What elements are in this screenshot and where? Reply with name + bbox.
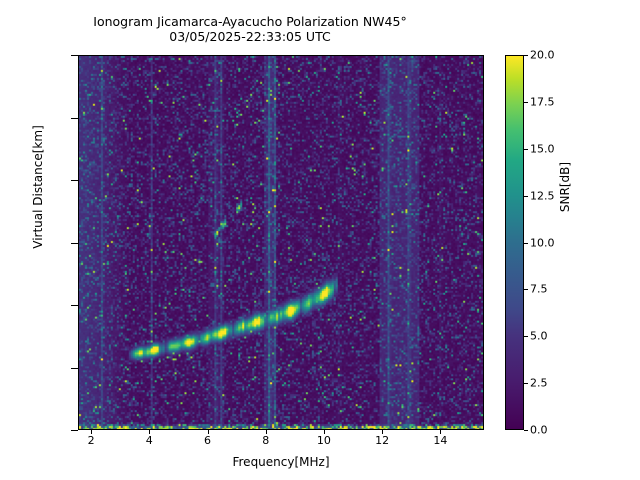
x-tick-label: 10	[304, 434, 344, 447]
colorbar-tick-label: 2.5	[530, 377, 548, 390]
y-tick-mark	[71, 180, 78, 181]
colorbar-tick-label: 10.0	[530, 236, 555, 249]
colorbar-tick-mark	[524, 149, 528, 150]
colorbar[interactable]	[505, 55, 524, 430]
x-tick-label: 4	[129, 434, 169, 447]
colorbar-tick-mark	[524, 102, 528, 103]
colorbar-tick-mark	[524, 289, 528, 290]
colorbar-tick-label: 17.5	[530, 95, 555, 108]
title-line-2: 03/05/2025-22:33:05 UTC	[169, 29, 330, 44]
y-tick-mark	[71, 305, 78, 306]
colorbar-tick-mark	[524, 196, 528, 197]
colorbar-tick-label: 12.5	[530, 189, 555, 202]
y-tick-mark	[71, 430, 78, 431]
colorbar-tick-mark	[524, 243, 528, 244]
x-tick-label: 12	[362, 434, 402, 447]
colorbar-tick-mark	[524, 383, 528, 384]
x-tick-mark	[266, 430, 267, 434]
x-tick-label: 8	[246, 434, 286, 447]
y-tick-mark	[71, 118, 78, 119]
title-line-1: Ionogram Jicamarca-Ayacucho Polarization…	[93, 14, 406, 29]
x-tick-mark	[91, 430, 92, 434]
colorbar-tick-label: 5.0	[530, 330, 548, 343]
x-tick-mark	[324, 430, 325, 434]
x-tick-mark	[440, 430, 441, 434]
plot-area[interactable]	[78, 55, 484, 430]
colorbar-label: SNR[dB]	[558, 77, 572, 297]
x-tick-label: 6	[188, 434, 228, 447]
ionogram-figure: Ionogram Jicamarca-Ayacucho Polarization…	[0, 0, 640, 480]
y-axis-label: Virtual Distance[km]	[31, 37, 45, 337]
y-tick-mark	[71, 368, 78, 369]
colorbar-tick-mark	[524, 55, 528, 56]
ionogram-heatmap-canvas	[79, 56, 483, 429]
x-tick-label: 14	[420, 434, 460, 447]
x-tick-mark	[208, 430, 209, 434]
x-tick-label: 2	[71, 434, 111, 447]
colorbar-tick-label: 20.0	[530, 49, 555, 62]
page-title: Ionogram Jicamarca-Ayacucho Polarization…	[0, 14, 500, 44]
colorbar-tick-mark	[524, 430, 528, 431]
colorbar-tick-label: 15.0	[530, 142, 555, 155]
y-tick-mark	[71, 243, 78, 244]
x-axis-label: Frequency[MHz]	[78, 455, 484, 469]
y-tick-mark	[71, 55, 78, 56]
colorbar-tick-label: 0.0	[530, 424, 548, 437]
x-tick-mark	[149, 430, 150, 434]
colorbar-tick-mark	[524, 336, 528, 337]
colorbar-tick-label: 7.5	[530, 283, 548, 296]
x-tick-mark	[382, 430, 383, 434]
